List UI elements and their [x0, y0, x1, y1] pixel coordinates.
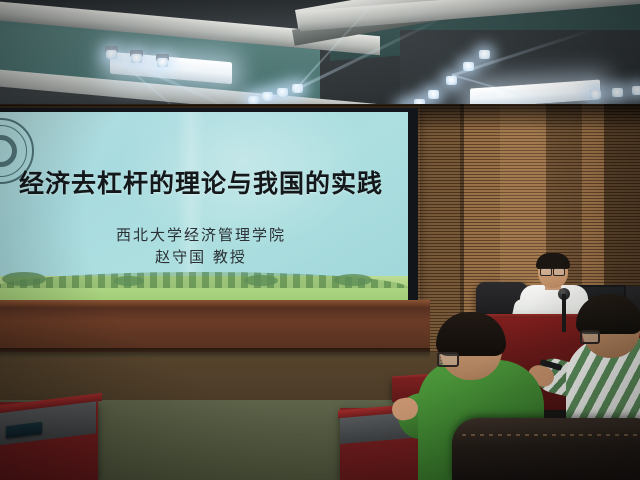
stage-ledge	[0, 300, 430, 352]
spotlight-16	[632, 86, 640, 95]
slide-organization: 西北大学经济管理学院	[0, 224, 408, 245]
spotlight-14	[590, 90, 601, 99]
speaker-hair	[536, 253, 570, 269]
spotlight-7	[292, 84, 303, 93]
speaker-glasses-right	[553, 268, 565, 276]
spotlight-1	[106, 50, 117, 59]
slide-tree	[2, 272, 46, 286]
projection-screen: NWU 经济去杠杆的理论与我国的实践 西北大学经济管理学院 赵守国 教授 201…	[0, 112, 408, 310]
attendee-green-glasses	[437, 352, 459, 367]
spotlight-12	[463, 62, 474, 71]
spotlight-6	[277, 88, 288, 97]
projection-screen-frame: NWU 经济去杠杆的理论与我国的实践 西北大学经济管理学院 赵守国 教授 201…	[0, 108, 418, 316]
spotlight-13	[479, 50, 490, 59]
chair-stitching	[462, 434, 640, 436]
stage-shadow	[0, 348, 430, 358]
microphone-stem	[562, 294, 566, 332]
attendee-striped-glasses	[580, 330, 600, 344]
slide-tree	[114, 276, 144, 286]
slide-tree	[244, 275, 278, 286]
slide-title: 经济去杠杆的理论与我国的实践	[0, 164, 408, 200]
speaker-glasses-left	[540, 268, 552, 276]
lecture-hall-photo: NWU 经济去杠杆的理论与我国的实践 西北大学经济管理学院 赵守国 教授 201…	[0, 0, 640, 480]
stage-ledge-top	[0, 300, 430, 307]
spotlight-10	[428, 90, 439, 99]
slide-author: 赵守国 教授	[0, 246, 408, 267]
spotlight-5	[262, 92, 273, 101]
foreground-leather-chair	[452, 418, 640, 480]
spotlight-2	[131, 54, 142, 63]
spotlight-15	[612, 88, 623, 97]
ceiling	[0, 0, 640, 118]
spotlight-3	[157, 58, 168, 67]
slide-tree	[334, 274, 372, 286]
spotlight-11	[446, 76, 457, 85]
